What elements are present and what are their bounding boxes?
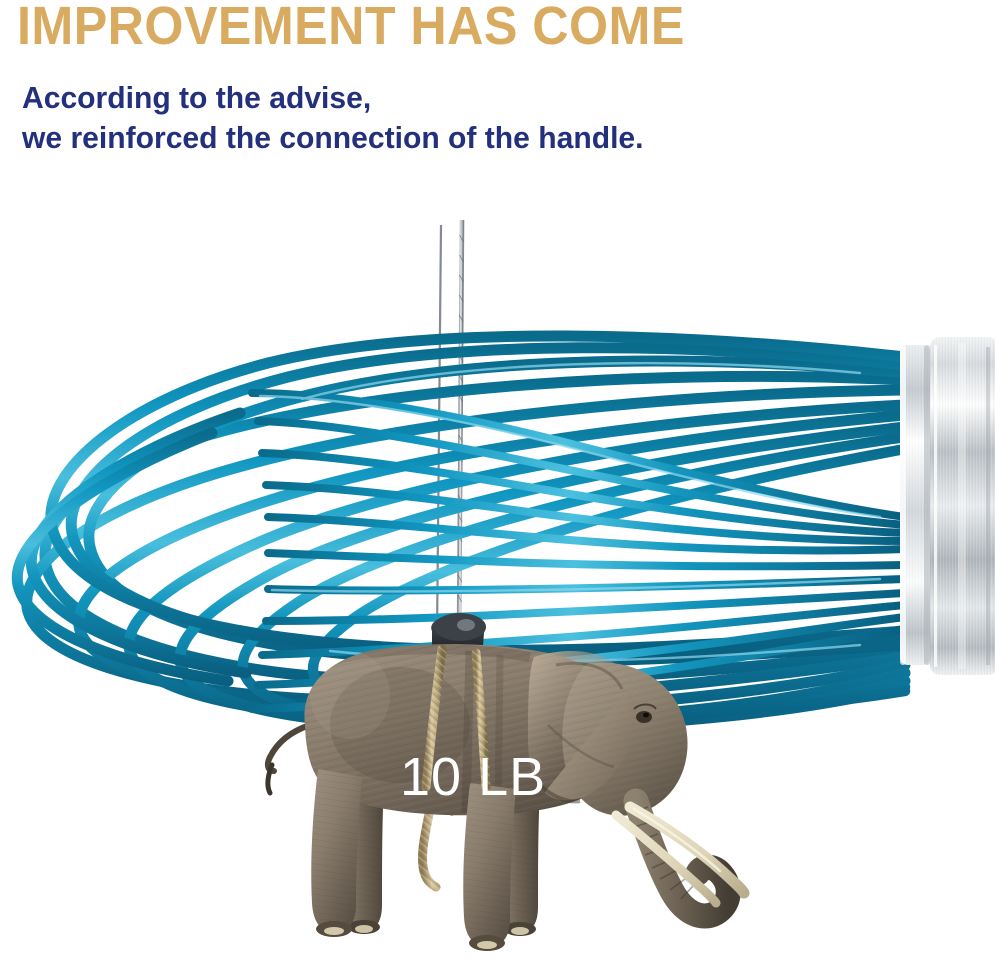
page-title: IMPROVEMENT HAS COME	[17, 0, 685, 55]
page-subtitle: According to the advise, we reinforced t…	[22, 78, 644, 158]
whisk-handle	[900, 337, 995, 675]
product-banner: IMPROVEMENT HAS COME According to the ad…	[0, 0, 995, 978]
product-illustration: 10 LB	[0, 165, 995, 978]
whisk-scene: 10 LB	[0, 165, 995, 978]
load-weight-label: 10 LB	[400, 747, 546, 807]
